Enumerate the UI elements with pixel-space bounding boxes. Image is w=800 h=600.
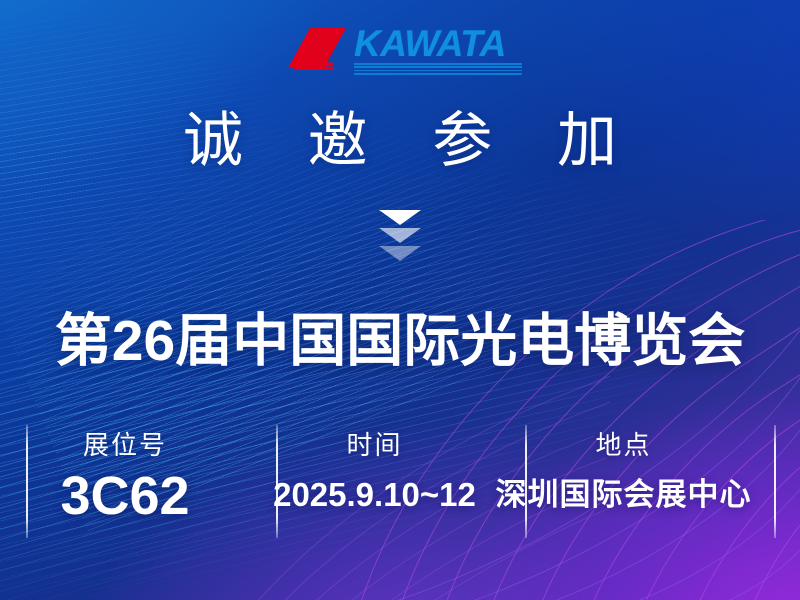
detail-venue-label: 地点 [595,428,651,462]
detail-booth-value: 3C62 [60,466,189,526]
kawata-red-slashes-icon [288,26,350,70]
kawata-logo: KAWATA [288,26,518,74]
detail-venue: 地点 深圳国际会展中心 [499,420,748,538]
detail-booth: 展位号 3C62 [0,420,250,538]
kawata-wordmark: KAWATA [354,26,522,62]
detail-divider-1 [26,425,28,538]
detail-divider-2 [276,425,278,538]
invitation-headline: 诚 邀 参 加 [0,104,800,178]
detail-divider-3 [525,425,527,538]
triple-chevron-down-icon [0,210,800,261]
detail-venue-value: 深圳国际会展中心 [496,466,752,524]
kawata-underline-bars [354,63,522,75]
detail-date-label: 时间 [346,428,402,462]
event-details-row: 展位号 3C62 时间 2025.9.10~12 地点 深圳国际会展中心 [0,420,800,545]
detail-date-value: 2025.9.10~12 [273,466,476,524]
detail-date: 时间 2025.9.10~12 [250,420,499,538]
detail-divider-4 [774,425,776,538]
detail-booth-label: 展位号 [83,428,167,462]
event-invitation-poster: KAWATA 诚 邀 参 加 第26届中国国际光电博览会 展位号 3C62 时间… [0,0,800,600]
event-title: 第26届中国国际光电博览会 [0,306,800,376]
